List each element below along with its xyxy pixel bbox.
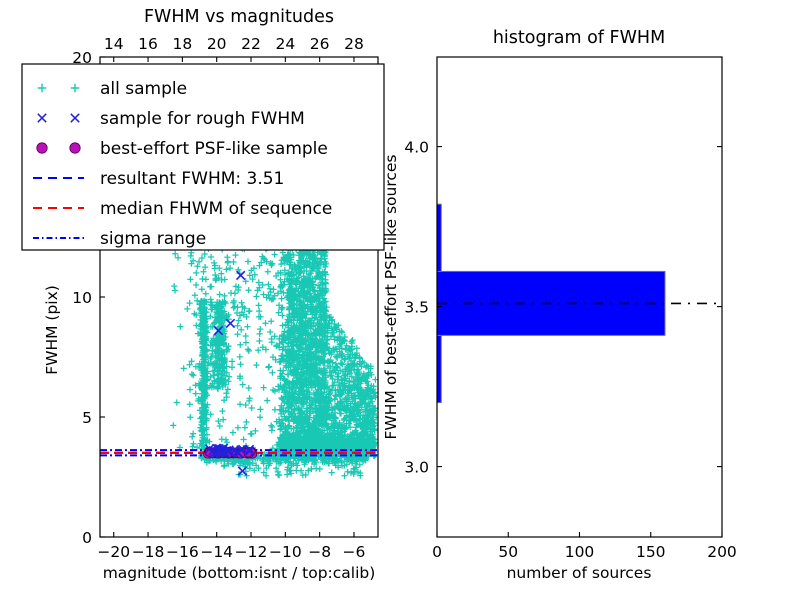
left-xtick-top-label: 28 bbox=[344, 35, 364, 53]
left-ytick-label: 10 bbox=[72, 289, 92, 307]
right-xtick-label: 200 bbox=[707, 543, 737, 561]
left-xtick-top-label: 22 bbox=[241, 35, 261, 53]
left-xtick-label: −10 bbox=[269, 543, 302, 561]
left-xtick-label: −12 bbox=[235, 543, 268, 561]
left-xtick-top-label: 16 bbox=[138, 35, 158, 53]
right-panel-title: histogram of FWHM bbox=[493, 28, 665, 48]
legend-item-label: best-effort PSF-like sample bbox=[100, 139, 328, 159]
right-ytick-label: 3.0 bbox=[404, 459, 429, 477]
left-xtick-top-label: 14 bbox=[104, 35, 124, 53]
left-xtick-label: −14 bbox=[200, 543, 233, 561]
left-xtick-top-label: 18 bbox=[173, 35, 193, 53]
left-xtick-label: −18 bbox=[132, 543, 165, 561]
right-yaxis-label: FWHM of best-effort PSF-like sources bbox=[382, 154, 400, 439]
left-xtick-label: −6 bbox=[343, 543, 366, 561]
legend-item-label: sample for rough FWHM bbox=[100, 109, 305, 129]
legend-item-label: sigma range bbox=[100, 229, 206, 249]
left-xtick-top-label: 26 bbox=[310, 35, 330, 53]
right-ytick-label: 3.5 bbox=[404, 299, 429, 317]
left-xtick-top-label: 20 bbox=[207, 35, 227, 53]
legend-item-label: resultant FWHM: 3.51 bbox=[100, 169, 284, 189]
legend-item-label: all sample bbox=[100, 79, 187, 99]
right-xaxis-label: number of sources bbox=[507, 564, 652, 582]
right-xtick-label: 100 bbox=[565, 543, 595, 561]
legend: all samplesample for rough FWHMbest-effo… bbox=[22, 64, 384, 250]
left-panel-title: FWHM vs magnitudes bbox=[144, 7, 334, 27]
left-ytick-label: 5 bbox=[82, 409, 92, 427]
right-xtick-label: 50 bbox=[498, 543, 518, 561]
right-xtick-label: 0 bbox=[432, 543, 442, 561]
left-yaxis-label: FWHM (pix) bbox=[43, 285, 61, 375]
left-xtick-label: −16 bbox=[166, 543, 199, 561]
histogram-bar bbox=[437, 204, 441, 271]
left-xtick-label: −8 bbox=[308, 543, 331, 561]
legend-item-label: median FHWM of sequence bbox=[100, 199, 332, 219]
histogram-bar bbox=[437, 335, 441, 402]
left-xtick-label: −20 bbox=[97, 543, 130, 561]
right-ytick-label: 4.0 bbox=[404, 139, 429, 157]
left-ytick-label: 0 bbox=[82, 529, 92, 547]
left-xaxis-label: magnitude (bottom:isnt / top:calib) bbox=[103, 564, 376, 582]
right-xtick-label: 150 bbox=[636, 543, 666, 561]
figure-canvas: −20−18−16−14−12−10−8−6141618202224262805… bbox=[0, 0, 800, 600]
left-xtick-top-label: 24 bbox=[275, 35, 295, 53]
